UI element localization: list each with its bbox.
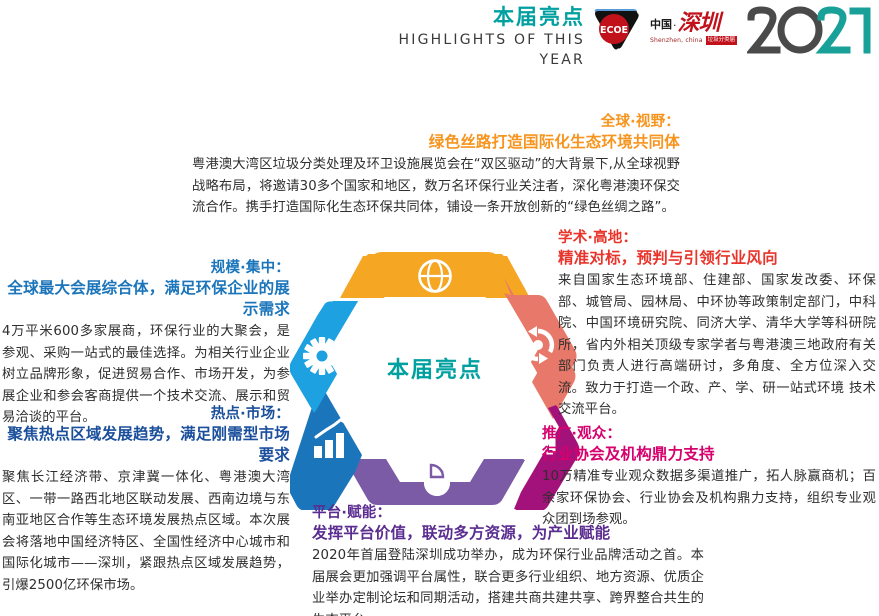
page-header: 本届亮点 HIGHLIGHTS OF THIS YEAR ECOE 中国 · 深… xyxy=(0,0,879,60)
hex-segment-top[interactable] xyxy=(340,252,530,298)
page-subtitle: HIGHLIGHTS OF THIS YEAR xyxy=(380,30,585,70)
section-hotspot-market-body: 聚焦长江经济带、京津冀一体化、粤港澳大湾区、一带一路西北地区联动发展、西南边境与… xyxy=(2,467,290,596)
section-scale-concentration-kicker: 规模·集中： xyxy=(2,258,290,278)
section-hotspot-market: 热点·市场： 聚焦热点区域发展趋势，满足刚需型市场要求 聚焦长江经济带、京津冀一… xyxy=(2,404,290,596)
section-hotspot-market-heading: 聚焦热点区域发展趋势，满足刚需型市场要求 xyxy=(2,424,290,466)
section-global-vision-body: 粤港澳大湾区垃圾分类处理及环卫设施展览会在“双区驱动”的大背景下,从全球视野战略… xyxy=(192,154,680,219)
section-academic-highland-heading: 精准对标，预判与引领行业风向 xyxy=(558,248,876,269)
year-2021-logo-icon xyxy=(747,6,875,56)
hex-segment-bottom-left[interactable] xyxy=(290,387,362,510)
ecoe-logo-icon: ECOE xyxy=(589,3,643,57)
shenzhen-city-label: 深圳 xyxy=(678,11,720,35)
section-scale-concentration-heading: 全球最大会展综合体，满足环保企业的展示需求 xyxy=(2,278,290,320)
section-global-vision-heading: 绿色丝路打造国际化生态环境共同体 xyxy=(192,132,680,153)
section-hotspot-market-kicker: 热点·市场： xyxy=(2,404,290,424)
highlights-infographic-page: 本届亮点 HIGHLIGHTS OF THIS YEAR ECOE 中国 · 深… xyxy=(0,0,879,616)
section-academic-highland-body: 来自国家生态环境部、住建部、国家发改委、环保部、城管局、园林局、中环协等政策制定… xyxy=(558,270,876,421)
section-scale-concentration: 规模·集中： 全球最大会展综合体，满足环保企业的展示需求 4万平米600多家展商… xyxy=(2,258,290,429)
shenzhen-country-label: 中国 xyxy=(650,18,672,35)
shenzhen-logo: 中国 · 深圳 Shenzhen, china 垃圾分类届 xyxy=(650,10,742,50)
section-global-vision-kicker: 全球·视野： xyxy=(192,112,680,132)
page-title: 本届亮点 xyxy=(380,4,585,30)
section-global-vision: 全球·视野： 绿色丝路打造国际化生态环境共同体 粤港澳大湾区垃圾分类处理及环卫设… xyxy=(192,112,680,219)
section-platform-empowerment-body: 2020年首届登陆深圳成功举办，成为环保行业品牌活动之首。本届展会更加强调平台属… xyxy=(312,545,704,616)
shenzhen-badge: 垃圾分类届 xyxy=(706,36,738,45)
hexagon-diagram: 本届亮点 xyxy=(290,248,580,510)
header-title-group: 本届亮点 HIGHLIGHTS OF THIS YEAR xyxy=(380,4,585,70)
section-promotion-audience-heading: 行业协会及机构鼎力支持 xyxy=(542,444,876,465)
section-platform-empowerment-heading: 发挥平台价值，联动多方资源，为产业赋能 xyxy=(312,523,704,544)
ecoe-logo: ECOE xyxy=(589,3,643,57)
section-platform-empowerment: 平台·赋能： 发挥平台价值，联动多方资源，为产业赋能 2020年首届登陆深圳成功… xyxy=(312,503,704,616)
year-2021-logo xyxy=(747,6,875,56)
section-platform-empowerment-kicker: 平台·赋能： xyxy=(312,503,704,523)
shenzhen-en-label: Shenzhen, china xyxy=(650,37,703,44)
section-academic-highland-kicker: 学术·高地： xyxy=(558,228,876,248)
hexagon-center-label: 本届亮点 xyxy=(290,352,580,384)
section-promotion-audience-kicker: 推广·观众： xyxy=(542,424,876,444)
svg-text:ECOE: ECOE xyxy=(600,25,628,36)
hex-segment-bottom[interactable] xyxy=(345,459,525,505)
section-academic-highland: 学术·高地： 精准对标，预判与引领行业风向 来自国家生态环境部、住建部、国家发改… xyxy=(558,228,876,421)
